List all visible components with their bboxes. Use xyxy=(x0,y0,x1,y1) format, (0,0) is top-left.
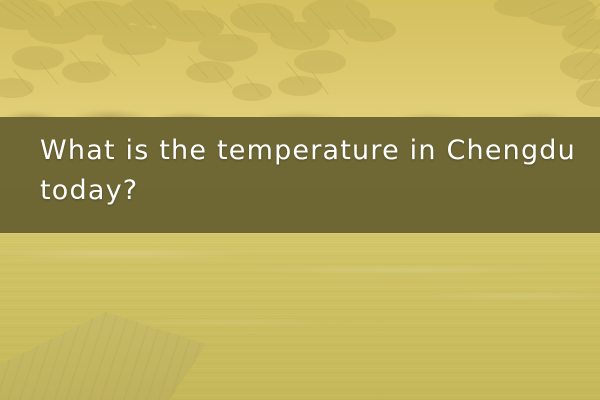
screenshot-canvas: What is the temperature in Chengdu today… xyxy=(0,0,600,400)
tree-canopy xyxy=(0,0,600,112)
caption-question-text: What is the temperature in Chengdu today… xyxy=(0,117,600,233)
